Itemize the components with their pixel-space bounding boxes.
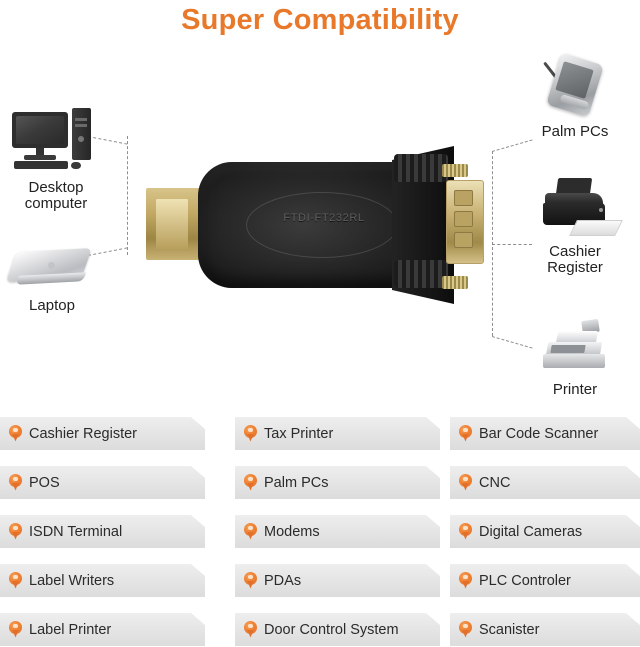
cash-register-icon [527, 318, 623, 378]
list-item-label: Label Printer [29, 622, 111, 638]
list-item[interactable]: CNC [450, 466, 640, 499]
map-pin-icon [459, 474, 472, 492]
laptop-icon [4, 246, 100, 294]
list-item-label: Cashier Register [29, 426, 137, 442]
list-item-label: POS [29, 475, 60, 491]
hood-grip-top [394, 154, 448, 182]
list-item-label: Modems [264, 524, 320, 540]
device-printer: Printer [520, 318, 630, 398]
usb-a-connector [146, 188, 206, 260]
map-pin-icon [244, 572, 257, 590]
list-item-label: Digital Cameras [479, 524, 582, 540]
device-label-laptop: Laptop [0, 298, 104, 314]
map-pin-icon [9, 474, 22, 492]
device-label-palm-pcs: Palm PCs [520, 124, 630, 140]
list-item-label: Palm PCs [264, 475, 328, 491]
list-item[interactable]: PLC Controler [450, 564, 640, 597]
adapter-emboss-oval [246, 192, 398, 258]
list-item-label: Door Control System [264, 622, 399, 638]
list-item[interactable]: Digital Cameras [450, 515, 640, 548]
list-item[interactable]: Cashier Register [0, 417, 205, 450]
list-item-label: Label Writers [29, 573, 114, 589]
connector-palm [492, 139, 533, 152]
list-item[interactable]: Bar Code Scanner [450, 417, 640, 450]
map-pin-icon [459, 523, 472, 541]
thumbscrew-top [442, 164, 468, 177]
list-item-label: PLC Controler [479, 573, 571, 589]
list-item[interactable]: Scanister [450, 613, 640, 646]
device-label-cashier-register: Cashier Register [520, 244, 630, 276]
map-pin-icon [459, 425, 472, 443]
device-label-desktop: Desktop computer [4, 180, 108, 212]
thumbscrew-bottom [442, 276, 468, 289]
desktop-computer-icon [8, 106, 104, 176]
page-title: Super Compatibility [0, 4, 640, 37]
map-pin-icon [9, 425, 22, 443]
device-laptop: Laptop [0, 246, 104, 314]
list-item[interactable]: POS [0, 466, 205, 499]
list-item-label: Tax Printer [264, 426, 333, 442]
map-pin-icon [9, 523, 22, 541]
palm-pc-icon [527, 54, 623, 120]
adapter-chipset-label: FTDI-FT232RL [254, 212, 394, 224]
hood-grip-bottom [394, 260, 448, 288]
product-image-usb-rs232-adapter: FTDI-FT232RL [146, 140, 476, 320]
list-item[interactable]: Palm PCs [235, 466, 440, 499]
list-item[interactable]: Tax Printer [235, 417, 440, 450]
list-item[interactable]: Door Control System [235, 613, 440, 646]
map-pin-icon [9, 621, 22, 639]
list-item[interactable]: PDAs [235, 564, 440, 597]
map-pin-icon [459, 572, 472, 590]
list-item[interactable]: ISDN Terminal [0, 515, 205, 548]
map-pin-icon [244, 474, 257, 492]
device-desktop-computer: Desktop computer [4, 106, 108, 212]
map-pin-icon [244, 425, 257, 443]
list-item-label: Scanister [479, 622, 539, 638]
map-pin-icon [9, 572, 22, 590]
list-item-label: CNC [479, 475, 510, 491]
device-label-printer: Printer [520, 382, 630, 398]
map-pin-icon [459, 621, 472, 639]
map-pin-icon [244, 621, 257, 639]
list-item-label: PDAs [264, 573, 301, 589]
connector-left-trunk [127, 136, 128, 255]
list-item[interactable]: Label Writers [0, 564, 205, 597]
map-pin-icon [244, 523, 257, 541]
list-item[interactable]: Modems [235, 515, 440, 548]
device-palm-pcs: Palm PCs [520, 54, 630, 140]
list-item-label: Bar Code Scanner [479, 426, 598, 442]
device-cashier-register: Cashier Register [520, 178, 630, 276]
inkjet-printer-icon [527, 178, 623, 240]
list-item[interactable]: Label Printer [0, 613, 205, 646]
list-item-label: ISDN Terminal [29, 524, 122, 540]
